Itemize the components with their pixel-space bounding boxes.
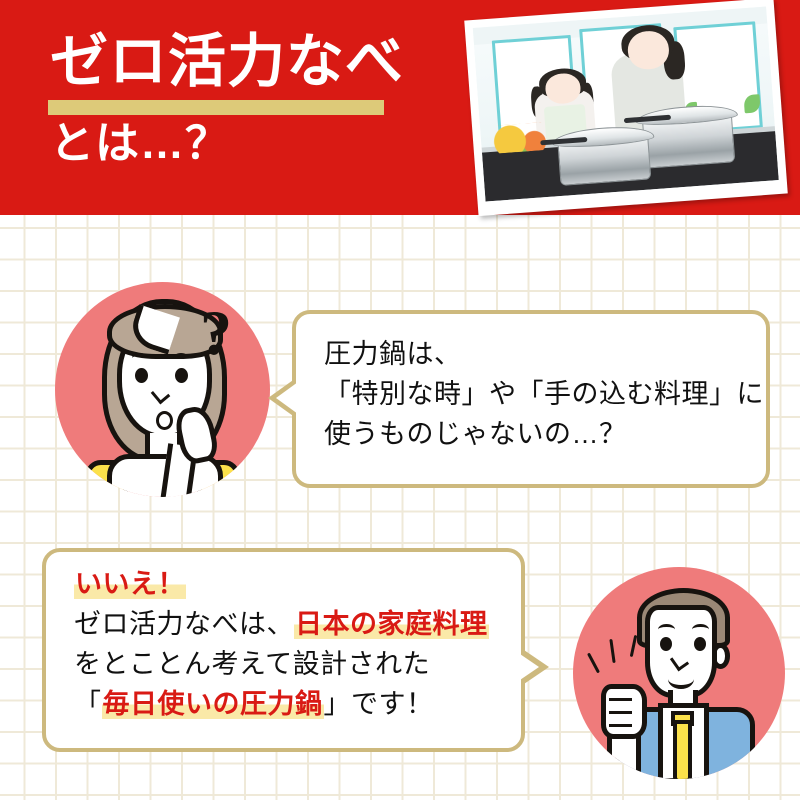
answer-line-3: をとことん考えて設計された <box>74 644 489 684</box>
woman-mouth <box>156 411 173 430</box>
man-fist-line <box>609 724 632 727</box>
kitchen-photo <box>464 0 788 216</box>
answer-line-2: ゼロ活力なべは、日本の家庭料理 <box>74 604 489 644</box>
avatar-woman-clip <box>55 282 270 497</box>
question-bubble: 圧力鍋は、 「特別な時」や「手の込む料理」に 使うものじゃないの…？ <box>292 310 770 488</box>
infographic-stage: ゼロ活力なべ とは…？ <box>0 0 800 800</box>
page-subtitle: とは…？ <box>50 122 230 166</box>
answer-quote-close: 」です！ <box>324 689 434 719</box>
spark-icon <box>587 652 600 673</box>
avatar-man <box>573 567 785 779</box>
answer-line-4: 「毎日使いの圧力鍋」です！ <box>74 684 489 724</box>
title-underline-bar <box>48 100 384 115</box>
answer-line-2-plain: ゼロ活力なべは、 <box>74 609 294 639</box>
header-title-wrap: ゼロ活力なべ <box>50 33 404 91</box>
avatar-man-clip <box>573 567 785 779</box>
man-necktie <box>673 720 692 779</box>
man-fist-line <box>609 711 632 714</box>
kitchen-photo-image <box>473 6 779 201</box>
page-title: ゼロ活力なべ <box>50 33 404 91</box>
vegetables <box>486 121 564 154</box>
answer-emphasis-iie: いいえ！ <box>74 569 186 599</box>
question-mark-icon: ? <box>200 296 232 370</box>
question-line-3: 使うものじゃないの…？ <box>324 414 764 454</box>
question-bubble-text: 圧力鍋は、 「特別な時」や「手の込む料理」に 使うものじゃないの…？ <box>324 334 764 454</box>
answer-bubble-text: いいえ！ ゼロ活力なべは、日本の家庭料理 をとことん考えて設計された 「毎日使い… <box>74 564 489 724</box>
man-mouth <box>668 669 694 689</box>
question-line-2: 「特別な時」や「手の込む料理」に <box>324 374 764 414</box>
answer-quote-open: 「 <box>74 689 102 719</box>
avatar-woman <box>55 282 270 497</box>
man-fist-line <box>609 698 632 701</box>
man-eyebrow-right <box>692 624 709 635</box>
woman-eye-left <box>135 368 148 383</box>
question-line-1: 圧力鍋は、 <box>324 334 764 374</box>
man-eye-left <box>660 637 672 651</box>
question-bubble-tail-fill <box>276 382 298 414</box>
answer-line-1: いいえ！ <box>74 564 489 604</box>
answer-emphasis-everyday-pressure-cooker: 毎日使いの圧力鍋 <box>102 689 324 719</box>
spark-icon <box>610 639 616 663</box>
answer-bubble-tail-fill <box>517 652 539 682</box>
answer-emphasis-japanese-home-cooking: 日本の家庭料理 <box>294 609 489 639</box>
answer-bubble: いいえ！ ゼロ活力なべは、日本の家庭料理 をとことん考えて設計された 「毎日使い… <box>42 548 525 752</box>
man-eye-right <box>694 637 706 651</box>
spark-icon <box>630 635 638 657</box>
